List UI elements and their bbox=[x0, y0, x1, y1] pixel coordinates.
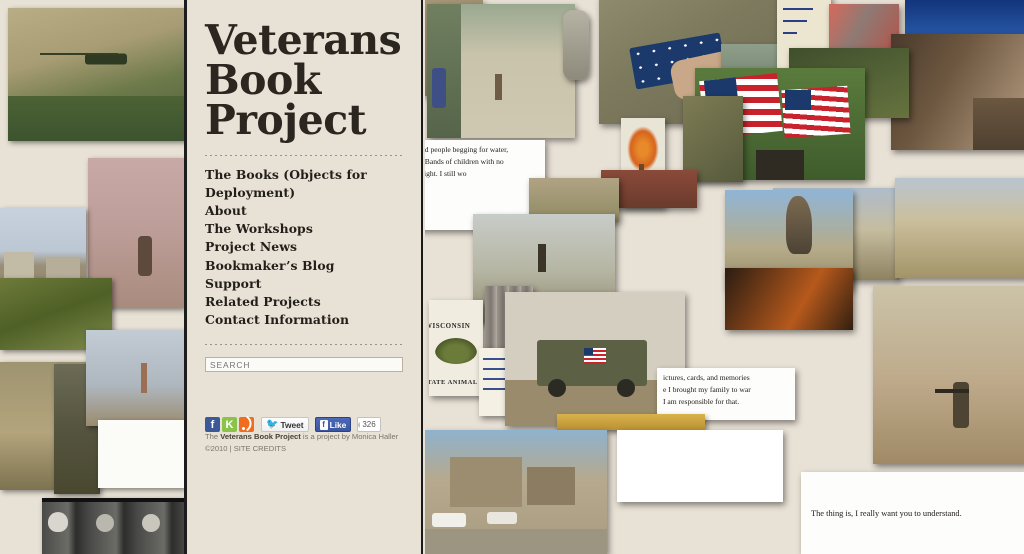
share-count-badge: 326 bbox=[357, 417, 380, 432]
excerpt-understand-text: The thing is, I really want you to under… bbox=[801, 509, 972, 518]
collage-photo-blank-card[interactable] bbox=[617, 430, 783, 502]
sidebar-item-the-books[interactable]: The Books (Objects for Deployment) bbox=[205, 166, 403, 202]
wisconsin-bottom-label: STATE ANIMAL bbox=[429, 379, 478, 386]
divider-under-title bbox=[205, 155, 403, 156]
main-navigation: The Books (Objects for Deployment) About… bbox=[205, 166, 403, 330]
social-share-row: f K 🐦 Tweet f Like 326 bbox=[205, 417, 381, 432]
site-title-line-3: Project bbox=[205, 100, 403, 140]
photo-minaret[interactable] bbox=[86, 330, 184, 426]
sidebar-item-bookmakers-blog[interactable]: Bookmaker’s Blog bbox=[205, 257, 403, 275]
collage-text-excerpt-understand[interactable]: The thing is, I really want you to under… bbox=[801, 472, 1024, 554]
colophon: The Veterans Book Project is a project b… bbox=[205, 431, 410, 454]
excerpt-water-text: nd people begging for water, . Bands of … bbox=[425, 140, 545, 183]
sidebar-item-project-news[interactable]: Project News bbox=[205, 238, 403, 256]
kickstarter-icon[interactable]: K bbox=[222, 417, 237, 432]
site-credits-link[interactable]: SITE CREDITS bbox=[234, 444, 286, 453]
collage-photo-wisconsin-card[interactable]: WISCONSIN STATE ANIMAL bbox=[429, 300, 483, 396]
collage-photo-fire-smoke[interactable] bbox=[829, 4, 899, 50]
photo-marine-portraits[interactable] bbox=[42, 498, 184, 554]
photo-blank-white[interactable] bbox=[98, 420, 184, 488]
sidebar-item-about[interactable]: About bbox=[205, 202, 403, 220]
search-input[interactable] bbox=[205, 357, 403, 372]
collage-photo-mirror[interactable] bbox=[563, 10, 589, 80]
colophon-prefix: The bbox=[205, 432, 220, 441]
collage-photo-gold-strip[interactable] bbox=[557, 414, 705, 430]
sidebar-item-support[interactable]: Support bbox=[205, 275, 403, 293]
collage-text-excerpt-memories[interactable]: ictures, cards, and memories e I brought… bbox=[657, 368, 795, 420]
copyright-text: ©2010 | bbox=[205, 444, 234, 453]
like-label: Like bbox=[330, 420, 347, 430]
facebook-share-icon[interactable]: f bbox=[205, 417, 220, 432]
site-title: Veterans Book Project bbox=[205, 20, 403, 141]
collage-photo-doorway-stairs[interactable] bbox=[891, 34, 1024, 150]
colophon-line-1: The Veterans Book Project is a project b… bbox=[205, 431, 410, 442]
colophon-line-2: ©2010 | SITE CREDITS bbox=[205, 443, 410, 454]
facebook-like-button[interactable]: f Like bbox=[315, 417, 352, 432]
rss-icon[interactable] bbox=[239, 417, 254, 432]
wisconsin-top-label: WISCONSIN bbox=[429, 322, 470, 330]
facebook-f-icon: f bbox=[320, 420, 328, 430]
sidebar: Veterans Book Project The Books (Objects… bbox=[184, 0, 423, 554]
collage-photo-night-fire[interactable] bbox=[725, 268, 853, 330]
site-title-line-2: Book bbox=[205, 60, 403, 100]
tweet-button[interactable]: 🐦 Tweet bbox=[261, 417, 309, 432]
left-photo-column bbox=[0, 0, 184, 554]
page-root: Veterans Book Project The Books (Objects… bbox=[0, 0, 1024, 554]
site-title-line-1: Veterans bbox=[205, 20, 403, 60]
photo-collage: nd people begging for water, . Bands of … bbox=[425, 0, 1024, 554]
collage-photo-desert-soldier-right[interactable] bbox=[873, 286, 1024, 464]
collage-photo-street-scene[interactable] bbox=[425, 430, 607, 554]
excerpt-memories-text: ictures, cards, and memories e I brought… bbox=[657, 368, 795, 411]
photo-helicopter[interactable] bbox=[8, 8, 184, 141]
colophon-suffix: is a project by Monica Haller bbox=[301, 432, 399, 441]
sidebar-item-related-projects[interactable]: Related Projects bbox=[205, 293, 403, 311]
twitter-bird-icon: 🐦 bbox=[266, 419, 278, 430]
collage-photo-desert-horizon-b[interactable] bbox=[895, 178, 1024, 278]
colophon-brand: Veterans Book Project bbox=[220, 432, 301, 441]
search-container bbox=[205, 355, 403, 373]
sidebar-item-the-workshops[interactable]: The Workshops bbox=[205, 220, 403, 238]
sidebar-item-contact-information[interactable]: Contact Information bbox=[205, 311, 403, 329]
collage-photo-children-road[interactable] bbox=[427, 4, 575, 138]
divider-above-search bbox=[205, 344, 403, 345]
tweet-label: Tweet bbox=[280, 420, 303, 430]
